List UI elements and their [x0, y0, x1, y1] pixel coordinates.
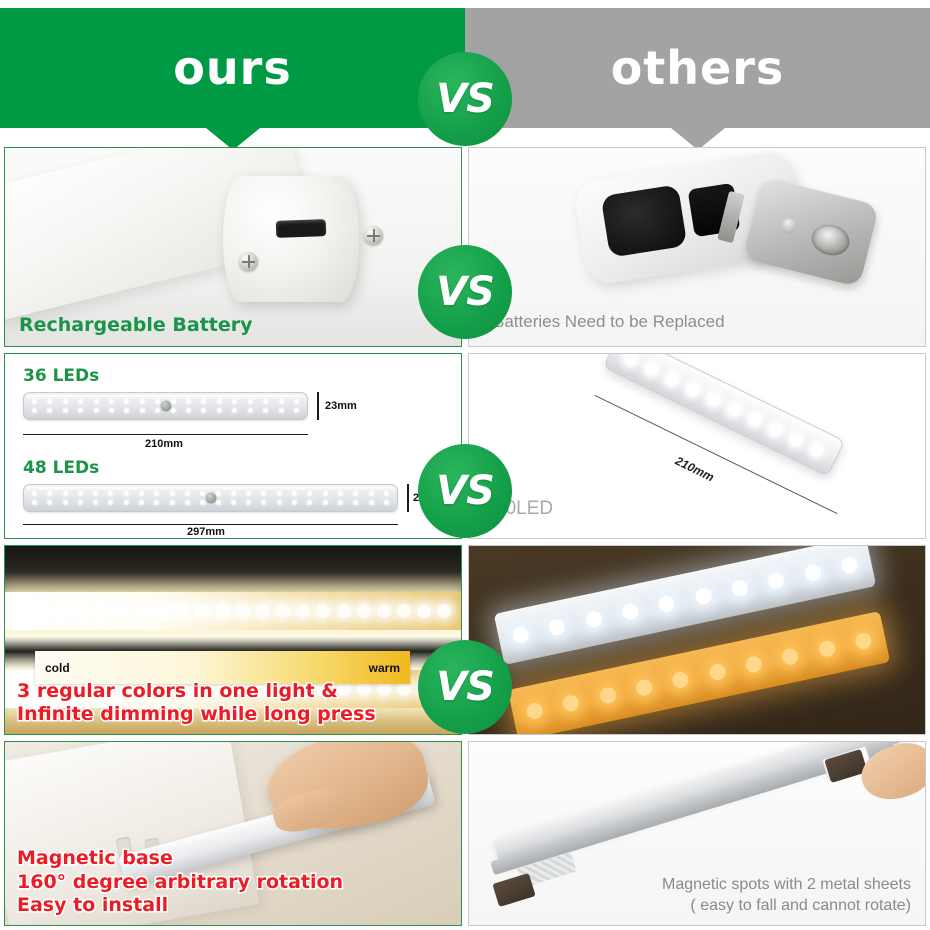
motion-sensor-icon [160, 401, 171, 412]
height-dimension-line-48 [407, 484, 409, 512]
led-dot-icon [63, 399, 68, 404]
led-dot-icon [109, 408, 114, 413]
header-ours-panel: ours [0, 8, 465, 128]
led-dot-icon [277, 491, 282, 496]
battery-terminal-dot-icon [780, 217, 798, 235]
led-48-title: 48 LEDs [23, 458, 99, 478]
vs-badge-label: VS [436, 76, 494, 122]
led-dot-icon [216, 491, 221, 496]
led-bead-icon [548, 618, 567, 637]
led-bead-icon [621, 602, 640, 621]
led-bead-icon [196, 604, 210, 618]
comparison-row-mounting: 160 ° Magnetic base 160° degree arbitrar… [4, 741, 926, 926]
led-dot-icon [232, 408, 237, 413]
led-dot-icon [261, 491, 266, 496]
led-dot-icon [63, 491, 68, 496]
led-bead-icon [643, 360, 660, 377]
others-cell-mounting: Magnetic spots with 2 metal sheets ( eas… [468, 741, 926, 926]
led-dot-icon [338, 500, 343, 505]
screw-icon [364, 226, 383, 245]
header-ours-label: ours [173, 41, 291, 95]
micro-usb-port-icon [276, 219, 327, 238]
led-dot-icon [216, 500, 221, 505]
others-cell-battery: Batteries Need to be Replaced [468, 147, 926, 347]
ours-mounting-caption: Magnetic base 160° degree arbitrary rota… [17, 847, 343, 917]
led-bead-icon [357, 604, 371, 618]
led-dot-icon [47, 500, 52, 505]
led-bead-icon [35, 604, 49, 618]
led-dot-icon [217, 399, 222, 404]
led-dot-icon [47, 408, 52, 413]
led-bead-icon [276, 604, 290, 618]
led-strip-upper [5, 592, 461, 630]
ours-cell-battery: Rechargeable Battery [4, 147, 462, 347]
led-dot-icon [94, 408, 99, 413]
led-dot-icon [124, 500, 129, 505]
led-dot-icon [32, 408, 37, 413]
led-bead-icon [316, 604, 330, 618]
vs-badge-label: VS [436, 468, 494, 514]
battery-terminal-ring-icon [809, 221, 853, 259]
length-dimension-line-36 [23, 434, 308, 435]
comparison-infographic: ours others Rechargeable Battery [0, 0, 930, 930]
led-36-height-label: 23mm [325, 400, 357, 412]
led-dot-icon [124, 491, 129, 496]
led-dot-icon [323, 500, 328, 505]
led-dot-icon [323, 491, 328, 496]
led-bead-icon [397, 682, 411, 696]
led-bead-icon [705, 391, 722, 408]
ours-cell-led-count: 36 LEDs 23mm 210mm 48 LEDs [4, 353, 462, 539]
led-bead-icon [840, 556, 859, 575]
led-dot-icon [140, 408, 145, 413]
led-dot-icon [292, 491, 297, 496]
led-dot-icon [384, 491, 389, 496]
led-36-length-label: 210mm [145, 438, 183, 450]
led-dot-icon [292, 500, 297, 505]
led-dot-icon [200, 500, 205, 505]
led-beads [622, 353, 826, 459]
led-dot-icon [231, 500, 236, 505]
led-dot-icon [93, 491, 98, 496]
led-dot-icon [353, 491, 358, 496]
led-bead-icon [725, 401, 742, 418]
led-dot-icon [263, 408, 268, 413]
led-dot-icon [186, 408, 191, 413]
led-dot-icon [78, 408, 83, 413]
led-bead-icon [15, 604, 29, 618]
vs-badge-row-2: VS [418, 245, 512, 339]
led-48-length-label: 297mm [187, 526, 225, 538]
led-bars-diagram: 36 LEDs 23mm 210mm 48 LEDs [5, 354, 461, 538]
led-bead-icon [744, 655, 763, 674]
led-dot-icon [78, 491, 83, 496]
led-dot-icon [171, 408, 176, 413]
led-bead-icon [657, 594, 676, 613]
led-dot-icon [124, 399, 129, 404]
led-dot-icon [170, 500, 175, 505]
led-dot-icon [108, 491, 113, 496]
led-dot-icon [78, 500, 83, 505]
led-bead-icon [708, 663, 727, 682]
vs-badge-row-1: VS [418, 52, 512, 146]
others-mounting-caption: Magnetic spots with 2 metal sheets ( eas… [662, 874, 911, 917]
led-bead-icon [236, 604, 250, 618]
led-dot-icon [63, 408, 68, 413]
header-others-label: others [611, 41, 785, 95]
led-dot-icon [369, 500, 374, 505]
led-dot-icon [32, 399, 37, 404]
led-bead-icon [671, 670, 690, 689]
led-dot-icon [369, 491, 374, 496]
led-dot-icon [109, 399, 114, 404]
gradient-warm-label: warm [369, 661, 400, 675]
led-bead-icon [115, 604, 129, 618]
led-36-title: 36 LEDs [23, 366, 99, 386]
led-dot-icon [32, 500, 37, 505]
led-bead-icon [598, 686, 617, 705]
led-dot-icon [108, 500, 113, 505]
led-dot-icon [32, 491, 37, 496]
magnetic-spot [492, 873, 535, 907]
led-dot-icon [93, 500, 98, 505]
battery-slot [601, 184, 688, 257]
led-dot-icon [307, 500, 312, 505]
two-lamps-photo [469, 546, 925, 734]
battery-door [743, 177, 880, 288]
led-dot-icon [294, 399, 299, 404]
led-bead-icon [95, 604, 109, 618]
led-bead-icon [216, 604, 230, 618]
length-dimension-line-48 [23, 524, 398, 525]
led-bead-icon [767, 421, 784, 438]
led-bead-icon [562, 694, 581, 713]
motion-sensor-icon [205, 493, 216, 504]
led-dot-icon [94, 399, 99, 404]
led-dot-icon [246, 491, 251, 496]
led-dot-icon [185, 491, 190, 496]
led-bar-48 [23, 484, 398, 512]
lamp-end-cap [223, 176, 359, 302]
led-dot-icon [307, 491, 312, 496]
led-dot-icon [261, 500, 266, 505]
led-dot-icon [217, 408, 222, 413]
others-battery-caption: Batteries Need to be Replaced [493, 312, 725, 332]
led-bead-icon [854, 632, 873, 651]
vs-badge-row-4: VS [418, 640, 512, 734]
led-bead-icon [511, 625, 530, 644]
height-dimension-line-36 [317, 392, 319, 420]
ours-battery-caption: Rechargeable Battery [19, 314, 253, 336]
led-dot-icon [124, 408, 129, 413]
led-bead-icon [730, 579, 749, 598]
led-bead-icon [437, 604, 451, 618]
led-bead-icon [525, 701, 544, 720]
led-dot-icon [263, 399, 268, 404]
led-dot-icon [248, 399, 253, 404]
led-beads [15, 596, 451, 626]
led-dot-icon [155, 408, 160, 413]
led-dot-icon [294, 408, 299, 413]
led-dot-icon [231, 491, 236, 496]
others-cell-led-count: 210mm 10LED [468, 353, 926, 539]
led-dot-icon [170, 491, 175, 496]
ours-cell-mounting: 160 ° Magnetic base 160° degree arbitrar… [4, 741, 462, 926]
led-dot-icon [139, 491, 144, 496]
led-bead-icon [808, 441, 825, 458]
led-dot-icon [279, 399, 284, 404]
led-bead-icon [417, 604, 431, 618]
led-dot-icon [246, 500, 251, 505]
led-dot-icon [139, 500, 144, 505]
led-dot-icon [201, 399, 206, 404]
led-bead-icon [803, 563, 822, 582]
led-bead-icon [781, 647, 800, 666]
led-bead-icon [584, 610, 603, 629]
led-bead-icon [746, 411, 763, 428]
led-dot-icon [232, 399, 237, 404]
led-bead-icon [377, 682, 391, 696]
led-bead-icon [635, 678, 654, 697]
led-bead-icon [256, 604, 270, 618]
ours-color-temperature-caption: 3 regular colors in one light & Infinite… [17, 680, 376, 726]
led-dot-icon [47, 491, 52, 496]
vs-badge-label: VS [436, 664, 494, 710]
led-dot-icon [353, 500, 358, 505]
led-dot-icon [185, 500, 190, 505]
ours-cell-color-temperature: cold warm 3 regular colors in one light … [4, 545, 462, 735]
led-dot-icon [171, 399, 176, 404]
led-dot-icon [63, 500, 68, 505]
led-dot-icon [140, 399, 145, 404]
led-bead-icon [787, 431, 804, 448]
vs-badge-row-3: VS [418, 444, 512, 538]
led-dot-icon [279, 408, 284, 413]
led-bead-icon [684, 381, 701, 398]
led-bead-icon [176, 604, 190, 618]
led-bead-icon [337, 604, 351, 618]
led-bar-36 [23, 392, 308, 420]
led-bead-icon [296, 604, 310, 618]
led-dot-icon [78, 399, 83, 404]
screw-icon [239, 252, 258, 271]
led-bead-icon [397, 604, 411, 618]
led-bead-icon [817, 639, 836, 658]
led-bead-icon [136, 604, 150, 618]
led-dot-icon [47, 399, 52, 404]
vs-badge-label: VS [436, 269, 494, 315]
led-dot-icon [277, 500, 282, 505]
others-length-label: 210mm [673, 454, 716, 485]
led-bead-icon [663, 371, 680, 388]
led-dot-icon [154, 491, 159, 496]
led-dot-icon [201, 408, 206, 413]
led-bead-icon [767, 571, 786, 590]
led-dot-icon [154, 500, 159, 505]
header-others-panel: others [465, 8, 930, 128]
led-bead-icon [75, 604, 89, 618]
led-bead-icon [55, 604, 69, 618]
led-dot-icon [338, 491, 343, 496]
led-bead-icon [377, 604, 391, 618]
led-bead-icon [694, 587, 713, 606]
led-bead-icon [622, 353, 639, 368]
gradient-cold-label: cold [45, 661, 70, 675]
led-bead-icon [156, 604, 170, 618]
led-dot-icon [248, 408, 253, 413]
others-cell-color-temperature [468, 545, 926, 735]
led-dot-icon [384, 500, 389, 505]
led-dot-icon [186, 399, 191, 404]
